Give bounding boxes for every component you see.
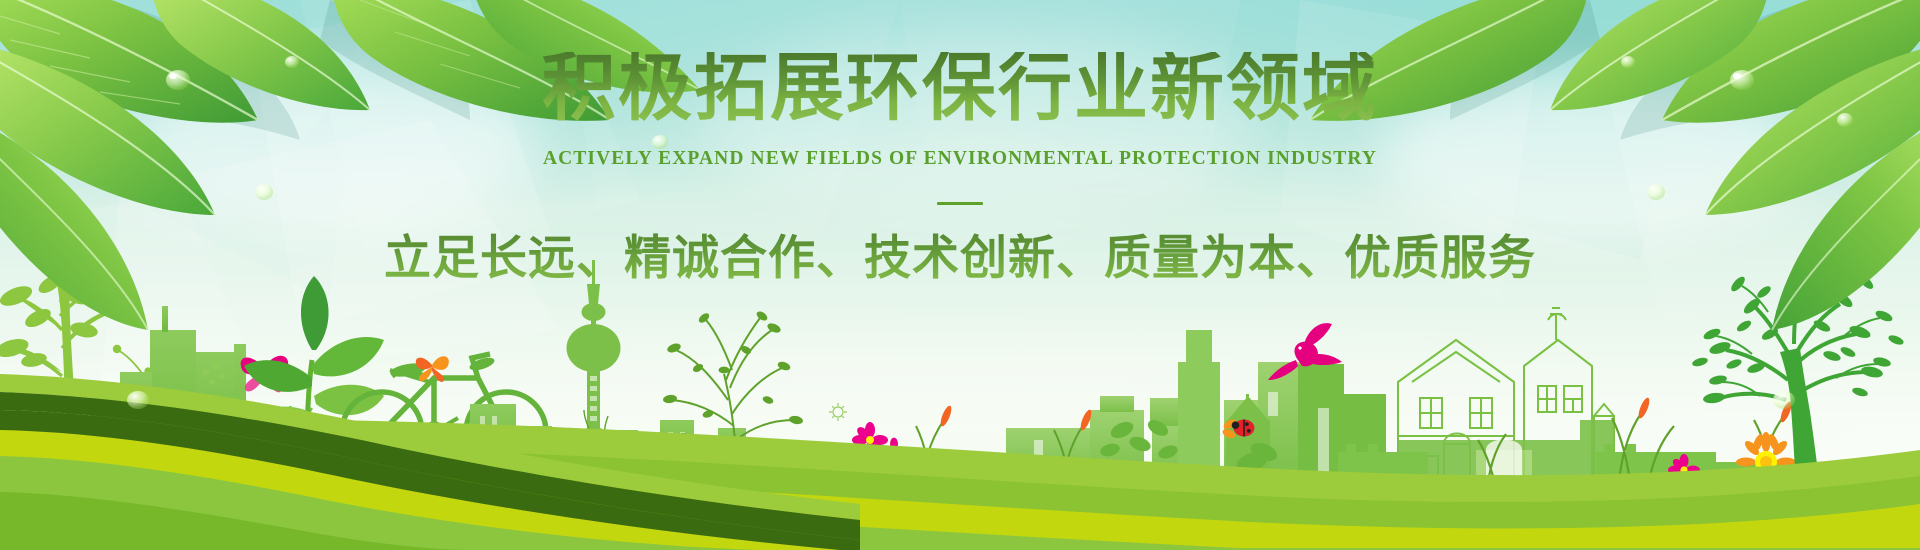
page-title: 积极拓展环保行业新领域 bbox=[542, 52, 1378, 126]
title-divider bbox=[937, 202, 983, 205]
banner-text-block: 积极拓展环保行业新领域 ACTIVELY EXPAND NEW FIELDS O… bbox=[0, 52, 1920, 288]
page-subtitle: ACTIVELY EXPAND NEW FIELDS OF ENVIRONMEN… bbox=[0, 148, 1920, 170]
company-slogan: 立足长远、精诚合作、技术创新、质量为本、优质服务 bbox=[384, 219, 1536, 288]
eco-banner: 积极拓展环保行业新领域 ACTIVELY EXPAND NEW FIELDS O… bbox=[0, 0, 1920, 550]
divider-wrap bbox=[0, 192, 1920, 195]
